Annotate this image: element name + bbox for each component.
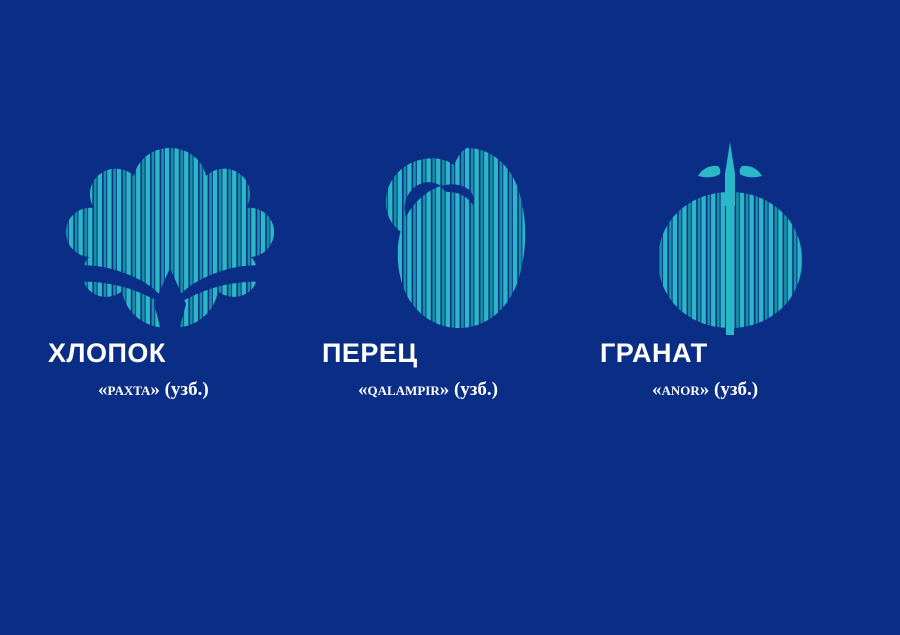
subtitle-translit-pomegranate: «anor» <box>652 379 709 400</box>
poster-canvas: ХЛОПОК «paxta» (узб.) <box>0 0 900 635</box>
pomegranate-icon <box>630 140 830 335</box>
subtitle-lang-pepper: (узб.) <box>454 379 498 400</box>
subtitle-lang-pomegranate: (узб.) <box>714 379 758 400</box>
pepper-icon-wrap <box>310 130 590 335</box>
subtitle-translit-pepper: «qalampir» <box>358 379 449 400</box>
page-title-pepper: ПЕРЕЦ <box>322 340 602 367</box>
subtitle-lang-cotton: (узб.) <box>165 379 209 400</box>
page-title-pomegranate: ГРАНАТ <box>600 340 880 367</box>
produce-item-row: ХЛОПОК «paxta» (узб.) <box>0 130 900 420</box>
produce-item-cotton: ХЛОПОК «paxta» (узб.) <box>30 130 310 420</box>
cotton-icon-wrap <box>30 130 310 335</box>
produce-item-pepper: ПЕРЕЦ «qalampir» (узб.) <box>310 130 590 420</box>
cotton-bract-overlays <box>59 260 281 330</box>
produce-item-pomegranate: ГРАНАТ «anor» (узб.) <box>590 130 870 420</box>
subtitle-translit-cotton: «paxta» <box>98 379 160 400</box>
subtitle-pomegranate: «anor» (узб.) <box>652 380 900 399</box>
page-title-cotton: ХЛОПОК <box>48 340 328 367</box>
pomegranate-icon-wrap <box>590 130 870 335</box>
chili-pepper-icon <box>355 140 545 335</box>
cotton-boll-icon <box>55 140 285 335</box>
pomegranate-center-spine <box>726 192 734 335</box>
